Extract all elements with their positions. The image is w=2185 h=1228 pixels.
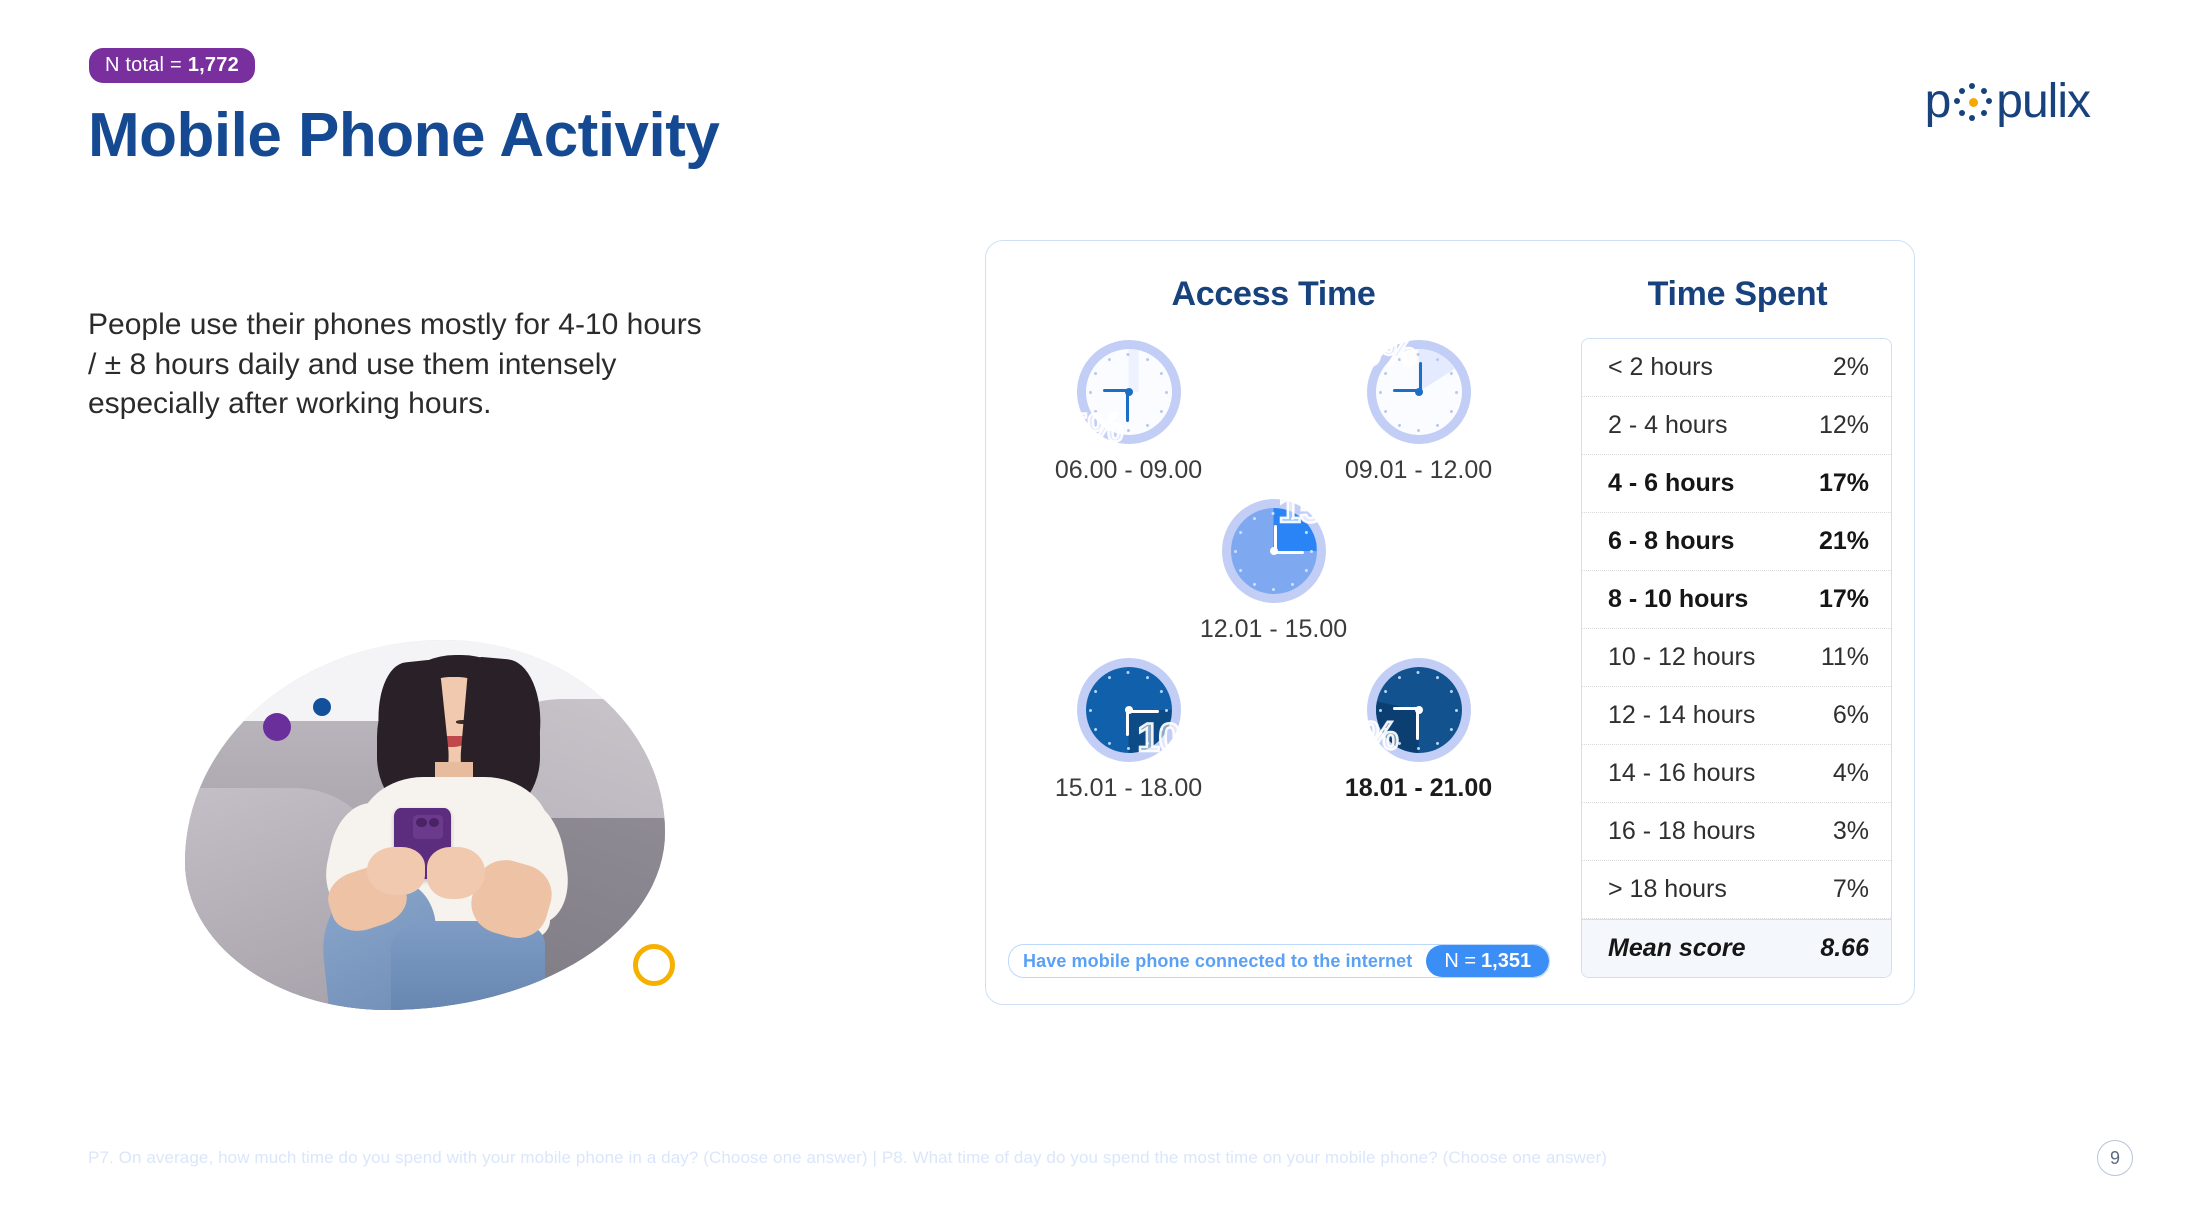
internet-connection-pill: Have mobile phone connected to the inter…: [1008, 944, 1550, 978]
table-row-label: 4 - 6 hours: [1608, 469, 1734, 498]
table-row-value: 7%: [1833, 875, 1869, 904]
clock-item-1801-2100: 52% 18.01 - 21.00: [1329, 658, 1509, 803]
clock-row-1: 5% 06.00 - 09.00: [986, 340, 1561, 485]
photo-smartphone-camera: [413, 815, 443, 839]
time-spent-title: Time Spent: [1561, 275, 1914, 314]
table-row-value: 2%: [1833, 353, 1869, 382]
table-row: 2 - 4 hours 12%: [1582, 397, 1891, 455]
table-row-label: 16 - 18 hours: [1608, 817, 1755, 846]
table-row: < 2 hours 2%: [1582, 339, 1891, 397]
internet-connection-n-label: N =: [1444, 950, 1476, 973]
clock-label: 15.01 - 18.00: [1055, 774, 1202, 803]
clock-icon: 15%: [1222, 499, 1326, 603]
page-number-badge: 9: [2097, 1140, 2133, 1176]
access-time-column: Access Time: [986, 241, 1561, 1004]
decorative-amber-ring: [633, 944, 675, 986]
table-row-label: < 2 hours: [1608, 353, 1713, 382]
time-spent-column: Time Spent < 2 hours 2% 2 - 4 hours 12% …: [1561, 241, 1914, 1004]
mean-score-value: 8.66: [1820, 934, 1869, 963]
clock-label: 06.00 - 09.00: [1055, 456, 1202, 485]
clock-item-0901-1200: 19% 09.01 - 12.00: [1329, 340, 1509, 485]
table-row-label: 6 - 8 hours: [1608, 527, 1734, 556]
table-row-value: 6%: [1833, 701, 1869, 730]
table-row-value: 17%: [1819, 469, 1869, 498]
table-row: 12 - 14 hours 6%: [1582, 687, 1891, 745]
clock-icon: 10%: [1077, 658, 1181, 762]
logo-text-left: p: [1925, 78, 1951, 126]
time-spent-table: < 2 hours 2% 2 - 4 hours 12% 4 - 6 hours…: [1581, 338, 1892, 978]
page-title: Mobile Phone Activity: [88, 105, 728, 167]
clock-label: 09.01 - 12.00: [1345, 456, 1492, 485]
table-row-label: > 18 hours: [1608, 875, 1727, 904]
hero-photo: [185, 640, 665, 1010]
mean-score-label: Mean score: [1608, 934, 1746, 963]
clock-icon: 19%: [1367, 340, 1471, 444]
table-row-label: 8 - 10 hours: [1608, 585, 1748, 614]
table-row-value: 17%: [1819, 585, 1869, 614]
clock-label: 18.01 - 21.00: [1345, 774, 1492, 803]
clock-item-1201-1500: 15% 12.01 - 15.00: [1184, 499, 1364, 644]
decorative-purple-dot: [263, 713, 291, 741]
photo-person: [185, 640, 665, 1010]
populix-logo: p pulix: [1925, 78, 2090, 126]
internet-connection-n-value: 1,351: [1481, 950, 1531, 973]
table-row: > 18 hours 7%: [1582, 861, 1891, 919]
table-row-label: 12 - 14 hours: [1608, 701, 1755, 730]
photo-person-hand-right: [427, 847, 485, 899]
table-row-value: 12%: [1819, 411, 1869, 440]
clock-row-3: 10% 15.01 - 18.00: [986, 658, 1561, 803]
logo-text-right: pulix: [1996, 78, 2090, 126]
internet-connection-label: Have mobile phone connected to the inter…: [1009, 945, 1426, 977]
table-row: 4 - 6 hours 17%: [1582, 455, 1891, 513]
clock-item-1501-1800: 10% 15.01 - 18.00: [1039, 658, 1219, 803]
clock-item-0600-0900: 5% 06.00 - 09.00: [1039, 340, 1219, 485]
table-row-value: 3%: [1833, 817, 1869, 846]
data-card: Access Time: [985, 240, 1915, 1005]
table-row: 8 - 10 hours 17%: [1582, 571, 1891, 629]
footnote: P7. On average, how much time do you spe…: [88, 1148, 1607, 1168]
n-total-value: 1,772: [188, 55, 239, 75]
internet-connection-n: N = 1,351: [1426, 945, 1549, 977]
table-row: 14 - 16 hours 4%: [1582, 745, 1891, 803]
photo-person-hand-left: [367, 847, 425, 895]
logo-dot-cluster-icon: [1951, 80, 1995, 124]
photo-blob-mask: [185, 640, 665, 1010]
access-time-title: Access Time: [986, 275, 1561, 314]
mean-score-row: Mean score 8.66: [1582, 919, 1891, 977]
table-row: 16 - 18 hours 3%: [1582, 803, 1891, 861]
table-row-value: 4%: [1833, 759, 1869, 788]
clock-grid: 5% 06.00 - 09.00: [986, 340, 1561, 803]
clock-icon: 52%: [1367, 658, 1471, 762]
summary-paragraph: People use their phones mostly for 4-10 …: [88, 305, 703, 424]
n-total-prefix: N total =: [105, 55, 182, 75]
table-row: 10 - 12 hours 11%: [1582, 629, 1891, 687]
table-row-value: 21%: [1819, 527, 1869, 556]
table-row-value: 11%: [1821, 643, 1869, 672]
table-row-label: 2 - 4 hours: [1608, 411, 1728, 440]
clock-row-2: 15% 12.01 - 15.00: [986, 499, 1561, 644]
clock-label: 12.01 - 15.00: [1200, 615, 1347, 644]
table-row: 6 - 8 hours 21%: [1582, 513, 1891, 571]
decorative-navy-dot: [313, 698, 331, 716]
table-row-label: 14 - 16 hours: [1608, 759, 1755, 788]
table-row-label: 10 - 12 hours: [1608, 643, 1755, 672]
n-total-badge: N total = 1,772: [89, 48, 255, 83]
clock-icon: 5%: [1077, 340, 1181, 444]
